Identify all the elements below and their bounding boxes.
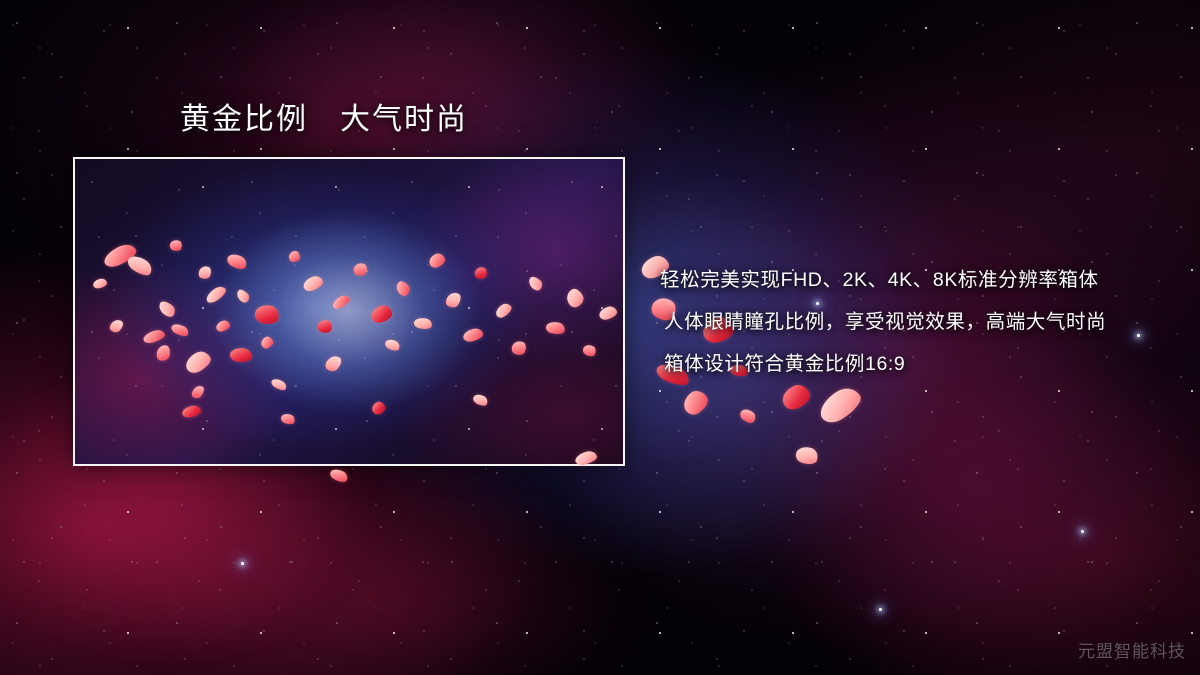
body-line-3: 箱体设计符合黄金比例16:9 bbox=[660, 343, 1160, 385]
preview-star-layer-medium bbox=[75, 159, 623, 464]
watermark: 元盟智能科技 bbox=[1078, 637, 1186, 662]
framed-preview-panel[interactable] bbox=[73, 157, 625, 466]
bright-star bbox=[879, 608, 882, 611]
slide-title: 黄金比例 大气时尚 bbox=[180, 101, 468, 139]
bright-star bbox=[241, 562, 244, 565]
slide-body-text: 轻松完美实现FHD、2K、4K、8K标准分辨率箱体 人体眼睛瞳孔比例，享受视觉效… bbox=[660, 259, 1160, 385]
bright-star bbox=[1081, 530, 1084, 533]
body-line-1: 轻松完美实现FHD、2K、4K、8K标准分辨率箱体 bbox=[660, 259, 1160, 301]
body-line-2: 人体眼睛瞳孔比例，享受视觉效果，高端大气时尚 bbox=[660, 301, 1160, 343]
petal bbox=[289, 251, 300, 262]
presentation-slide: 黄金比例 大气时尚 轻松完美实现FHD、2K、4K、8K标准分辨率箱体 人体眼睛… bbox=[0, 0, 1200, 675]
